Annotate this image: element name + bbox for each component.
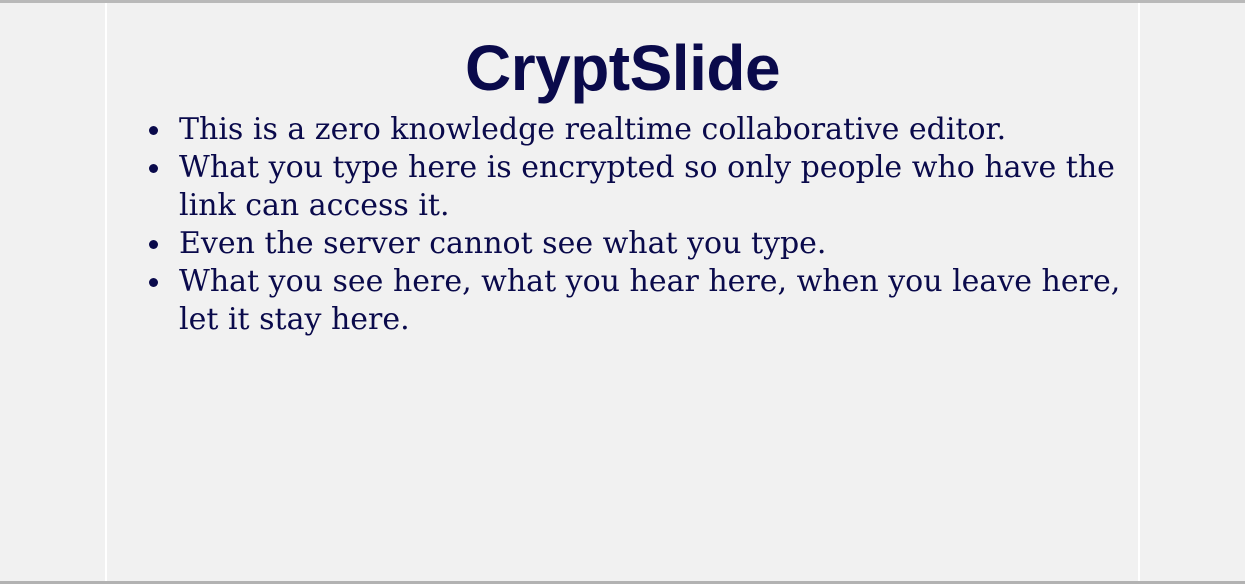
slide-bullet-item[interactable]: What you see here, what you hear here, w… [107,263,1138,339]
bullet-dot-icon [149,278,158,287]
slide-bullet-text[interactable]: This is a zero knowledge realtime collab… [179,111,1138,149]
slide-page[interactable]: CryptSlide This is a zero knowledge real… [105,3,1140,581]
bullet-dot-icon [149,164,158,173]
slide-content-area[interactable]: CryptSlide This is a zero knowledge real… [107,3,1138,581]
slide-bullet-item[interactable]: This is a zero knowledge realtime collab… [107,111,1138,149]
slide-viewer-root: CryptSlide This is a zero knowledge real… [0,0,1245,584]
slide-gutter-left [0,3,105,581]
slide-bullet-text[interactable]: What you type here is encrypted so only … [179,149,1138,225]
bullet-dot-icon [149,240,158,249]
slide-title[interactable]: CryptSlide [107,3,1138,101]
slide-gutter-right [1140,3,1245,581]
slide-bullet-item[interactable]: What you type here is encrypted so only … [107,149,1138,225]
slide-bullet-text[interactable]: What you see here, what you hear here, w… [179,263,1138,339]
bullet-dot-icon [149,126,158,135]
slide-bullet-text[interactable]: Even the server cannot see what you type… [179,225,1138,263]
slide-bullet-list: This is a zero knowledge realtime collab… [107,111,1138,339]
slide-bullet-item[interactable]: Even the server cannot see what you type… [107,225,1138,263]
